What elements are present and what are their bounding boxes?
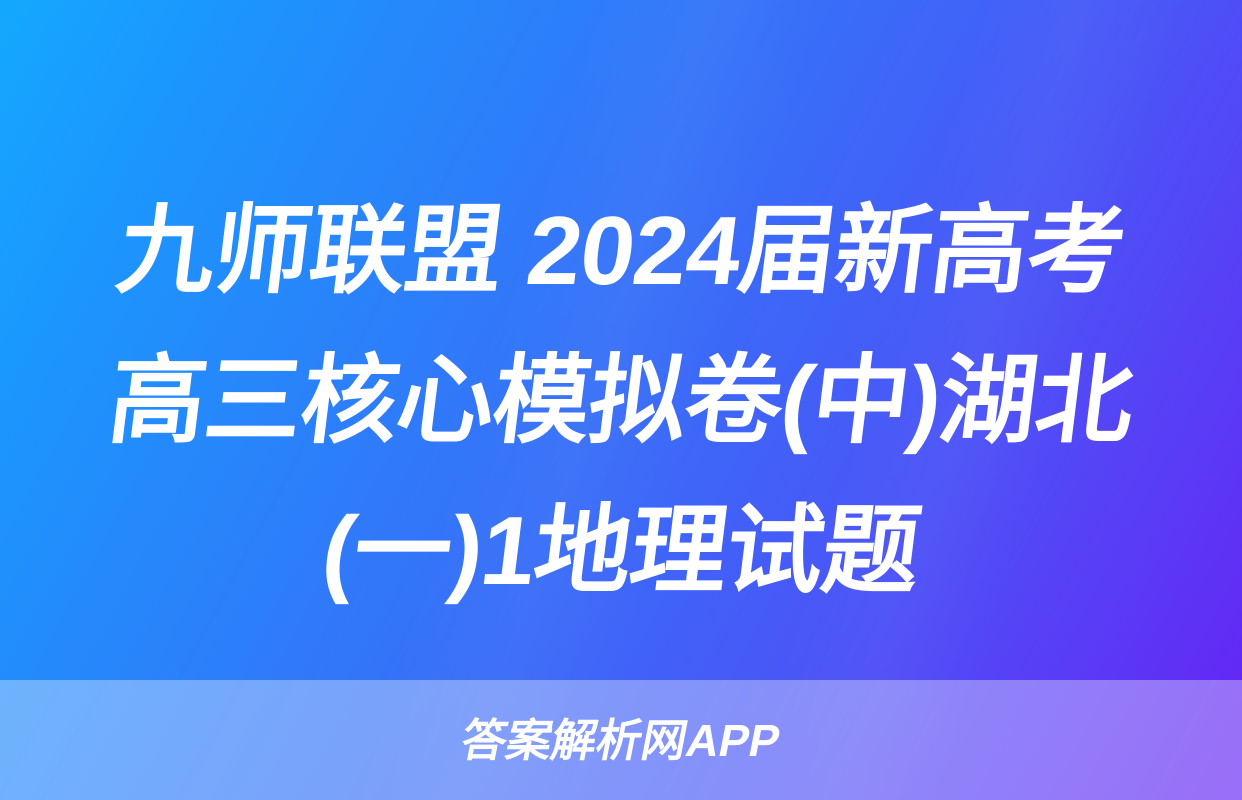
- cover-card: 九师联盟 2024届新高考 高三核心模拟卷(中)湖北 (一)1地理试题 答案解析…: [0, 0, 1242, 800]
- watermark-label: 答案解析网APP: [458, 718, 784, 763]
- title-line-2: 高三核心模拟卷(中)湖北: [25, 326, 1217, 476]
- title-line-3: (一)1地理试题: [25, 476, 1217, 626]
- watermark-band: 答案解析网APP: [0, 680, 1242, 800]
- title-line-1: 九师联盟 2024届新高考: [25, 176, 1217, 326]
- page-title: 九师联盟 2024届新高考 高三核心模拟卷(中)湖北 (一)1地理试题: [0, 176, 1242, 626]
